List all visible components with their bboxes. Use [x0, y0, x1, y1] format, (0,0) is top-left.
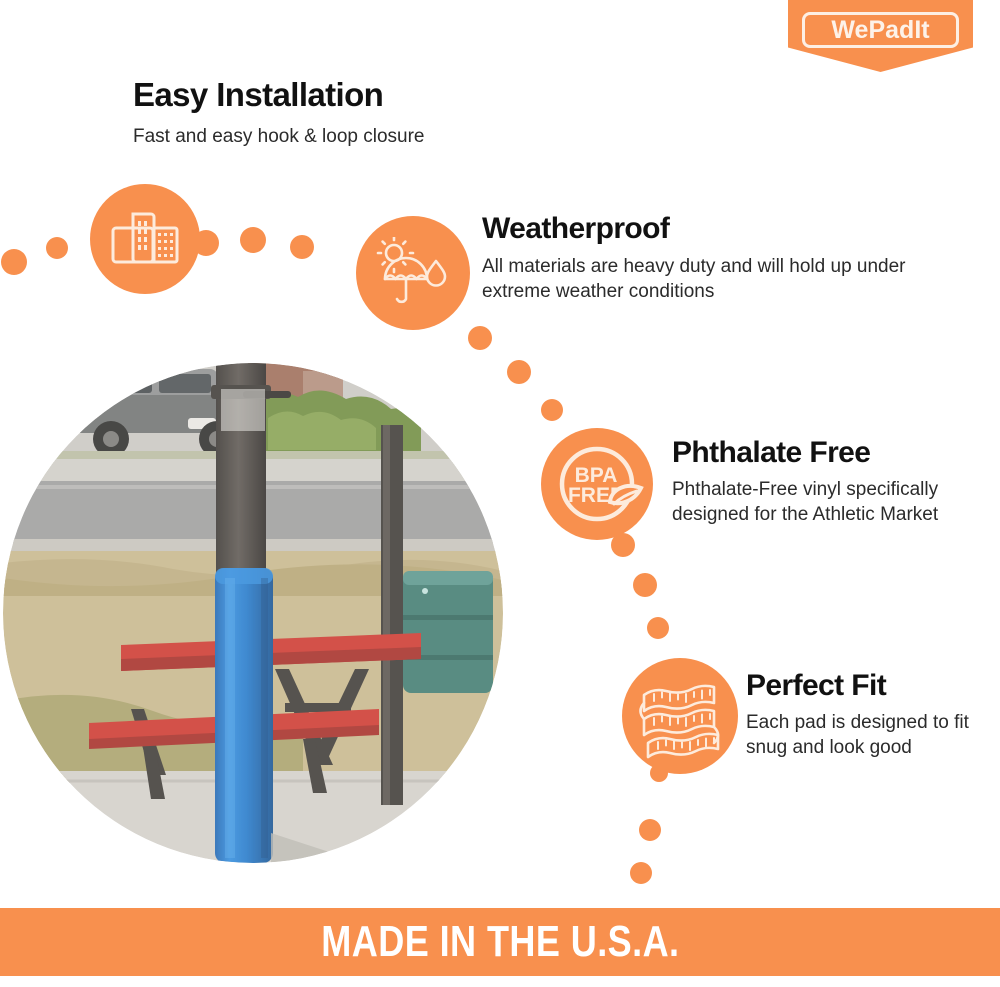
trail-dot [647, 617, 669, 639]
logo-text-pad: Pad [868, 16, 914, 44]
measuring-tape-icon [622, 658, 738, 774]
trail-dot [240, 227, 266, 253]
trail-dot [639, 819, 661, 841]
trail-dot [1, 249, 27, 275]
trail-dot [507, 360, 531, 384]
bpa-free-leaf-icon: BPA FREE [541, 428, 653, 540]
trail-dot [468, 326, 492, 350]
trail-dot [633, 573, 657, 597]
feature-body-weatherproof: All materials are heavy duty and will ho… [482, 254, 912, 305]
logo-wordmark: WePadIt [831, 18, 929, 43]
logo-text-we: We [831, 16, 868, 44]
trail-dot [541, 399, 563, 421]
feature-block-phthalate-free: Phthalate Free Phthalate-Free vinyl spec… [672, 437, 972, 527]
trail-dot [630, 862, 652, 884]
hook-and-loop-icon [90, 184, 200, 294]
feature-title-perfect-fit: Perfect Fit [746, 670, 991, 702]
made-in-usa-banner: MADE IN THE U.S.A. [0, 908, 1000, 976]
sun-umbrella-raindrop-icon [356, 216, 470, 330]
feature-block-perfect-fit: Perfect Fit Each pad is designed to fit … [746, 670, 991, 760]
brand-logo[interactable]: WePadIt [788, 0, 973, 72]
feature-title-phthalate-free: Phthalate Free [672, 437, 972, 469]
feature-title-easy-installation: Easy Installation [133, 78, 593, 113]
feature-body-easy-installation: Fast and easy hook & loop closure [133, 124, 593, 149]
product-photo [3, 363, 503, 863]
trail-dot [290, 235, 314, 259]
logo-outline-frame: WePadIt [802, 12, 959, 48]
feature-title-weatherproof: Weatherproof [482, 213, 912, 245]
feature-body-perfect-fit: Each pad is designed to fit snug and loo… [746, 710, 991, 761]
feature-block-weatherproof: Weatherproof All materials are heavy dut… [482, 213, 912, 304]
infographic-canvas: WePadIt Easy Installation Fast and easy … [0, 0, 1000, 987]
made-in-usa-text: MADE IN THE U.S.A. [321, 920, 679, 964]
trail-dot [46, 237, 68, 259]
feature-body-phthalate-free: Phthalate-Free vinyl specifically design… [672, 477, 972, 528]
feature-block-easy-installation: Easy Installation Fast and easy hook & l… [133, 78, 593, 149]
logo-text-it: It [914, 16, 929, 44]
